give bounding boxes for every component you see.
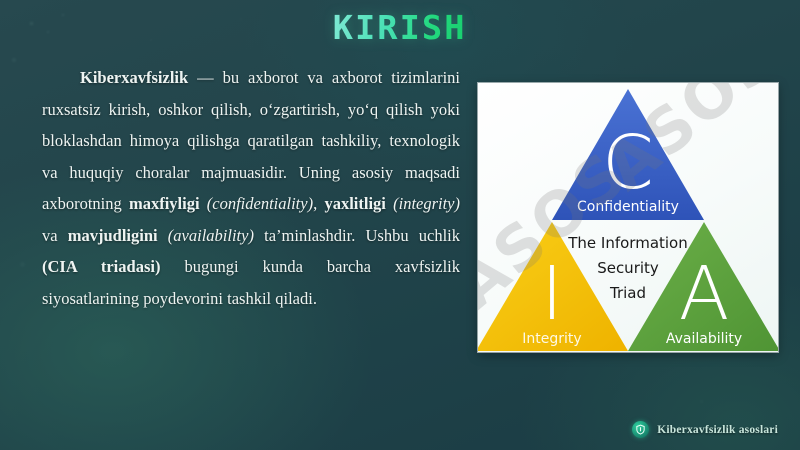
background-speck (12, 58, 16, 62)
body-segment-4: (confidentiality) (207, 194, 313, 213)
triad-segment-confidentiality[interactable]: C Confidentiality (552, 89, 704, 220)
triad-svg: C Confidentiality I Integrity A Availabi… (478, 83, 778, 352)
body-paragraph: Kiberxavfsizlik — bu axborot va axborot … (42, 62, 460, 314)
cia-triad-diagram: C Confidentiality I Integrity A Availabi… (478, 83, 778, 352)
body-segment-2: maxfiyligi (129, 194, 200, 213)
center-label-line-3: Triad (609, 284, 646, 302)
triad-letter-i: I (541, 251, 563, 337)
title-container: KIRISH (0, 8, 800, 47)
body-segment-14: (CIA triadasi) (42, 257, 160, 276)
body-segment-5: , (313, 194, 324, 213)
triad-label-availability: Availability (666, 331, 742, 347)
background-speck (700, 400, 703, 403)
body-segment-9: va (42, 226, 68, 245)
triad-label-confidentiality: Confidentiality (577, 199, 679, 215)
center-label-line-2: Security (597, 259, 659, 277)
body-segment-3 (200, 194, 207, 213)
page-title: KIRISH (333, 8, 467, 47)
body-segment-8: (integrity) (393, 194, 460, 213)
body-segment-10: mavjudligini (68, 226, 158, 245)
slide-canvas: KIRISH KIRISH Kiberxavfsizlik — bu axbor… (0, 0, 800, 450)
body-segment-13: ta’minlashdir. Ushbu uchlik (254, 226, 460, 245)
body-segment-0: Kiberxavfsizlik (80, 68, 188, 87)
body-segment-11 (158, 226, 168, 245)
background-speck (20, 262, 25, 267)
shield-badge-icon (632, 421, 649, 438)
body-segment-6: yaxlitligi (324, 194, 385, 213)
triad-letter-c: C (602, 120, 654, 206)
body-segment-12: (availability) (168, 226, 254, 245)
center-label-line-1: The Information (567, 234, 688, 252)
footer: Kiberxavfsizlik asoslari (632, 421, 778, 438)
footer-label: Kiberxavfsizlik asoslari (657, 424, 778, 436)
triad-label-integrity: Integrity (522, 331, 581, 347)
body-segment-1: — bu axborot va axborot tizimlarini ruxs… (42, 68, 460, 213)
triad-letter-a: A (679, 251, 730, 337)
